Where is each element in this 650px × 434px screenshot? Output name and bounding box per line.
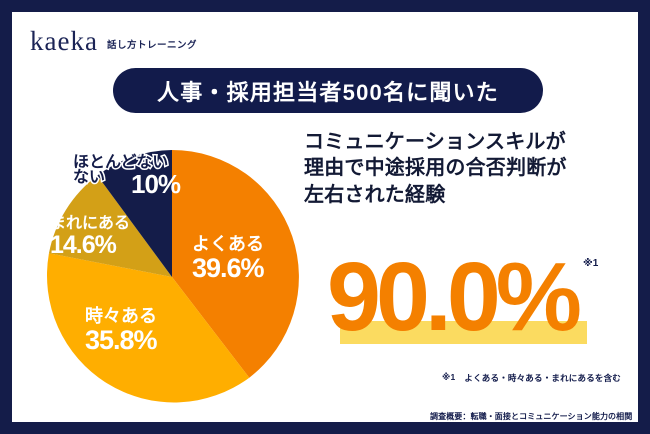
statistic-superscript: ※1 <box>583 258 598 269</box>
pie-label-yokuaru: よくある 39.6% <box>192 235 264 283</box>
headline-banner: 人事・採用担当者500名に聞いた <box>113 68 543 113</box>
pie-label-hotondonai-value: 10% <box>131 171 180 197</box>
pie-chart: よくある 39.6% 時々ある 35.8% まれにある 14.6% ほとんどない… <box>32 140 322 415</box>
headline-copy: コミュニケーションスキルが 理由で中途採用の合否判断が 左右された経験 <box>304 129 634 208</box>
logo-wordmark: kaeka <box>30 28 98 55</box>
statistic-value: 90.0% <box>327 248 577 345</box>
headline-banner-text: 人事・採用担当者500名に聞いた <box>157 75 499 107</box>
logo-tagline: 話し方トレーニング <box>107 40 197 55</box>
pie-label-tokidokiaru-name: 時々ある <box>85 307 157 325</box>
headline-line-3: 左右された経験 <box>304 182 634 208</box>
key-statistic: 90.0% ※1 <box>327 248 627 356</box>
poster-frame: kaeka 話し方トレーニング 人事・採用担当者500名に聞いた よくある <box>0 0 650 434</box>
poster-canvas: kaeka 話し方トレーニング 人事・採用担当者500名に聞いた よくある <box>12 12 638 422</box>
brand-logo: kaeka 話し方トレーニング <box>30 28 197 55</box>
footnote-marker: ※1 <box>442 372 455 384</box>
pie-label-marenaru-value: 14.6% <box>50 233 130 259</box>
footnote-text: よくある・時々ある・まれにあるを含む <box>464 372 621 384</box>
pie-label-yokuaru-name: よくある <box>192 235 264 253</box>
pie-label-tokidokiaru: 時々ある 35.8% <box>85 307 157 355</box>
footnote: ※1 よくある・時々ある・まれにあるを含む <box>442 372 621 384</box>
pie-label-marenaru-name: まれにある <box>50 216 130 232</box>
headline-line-1: コミュニケーションスキルが <box>304 129 634 155</box>
pie-label-tokidokiaru-value: 35.8% <box>85 327 157 355</box>
pie-label-yokuaru-value: 39.6% <box>192 255 264 283</box>
headline-line-2: 理由で中途採用の合否判断が <box>304 155 634 181</box>
pie-label-marenaru: まれにある 14.6% <box>50 216 130 259</box>
survey-note: 調査概要：転職・面接とコミュニケーション能力の相関調査 <box>430 411 638 422</box>
